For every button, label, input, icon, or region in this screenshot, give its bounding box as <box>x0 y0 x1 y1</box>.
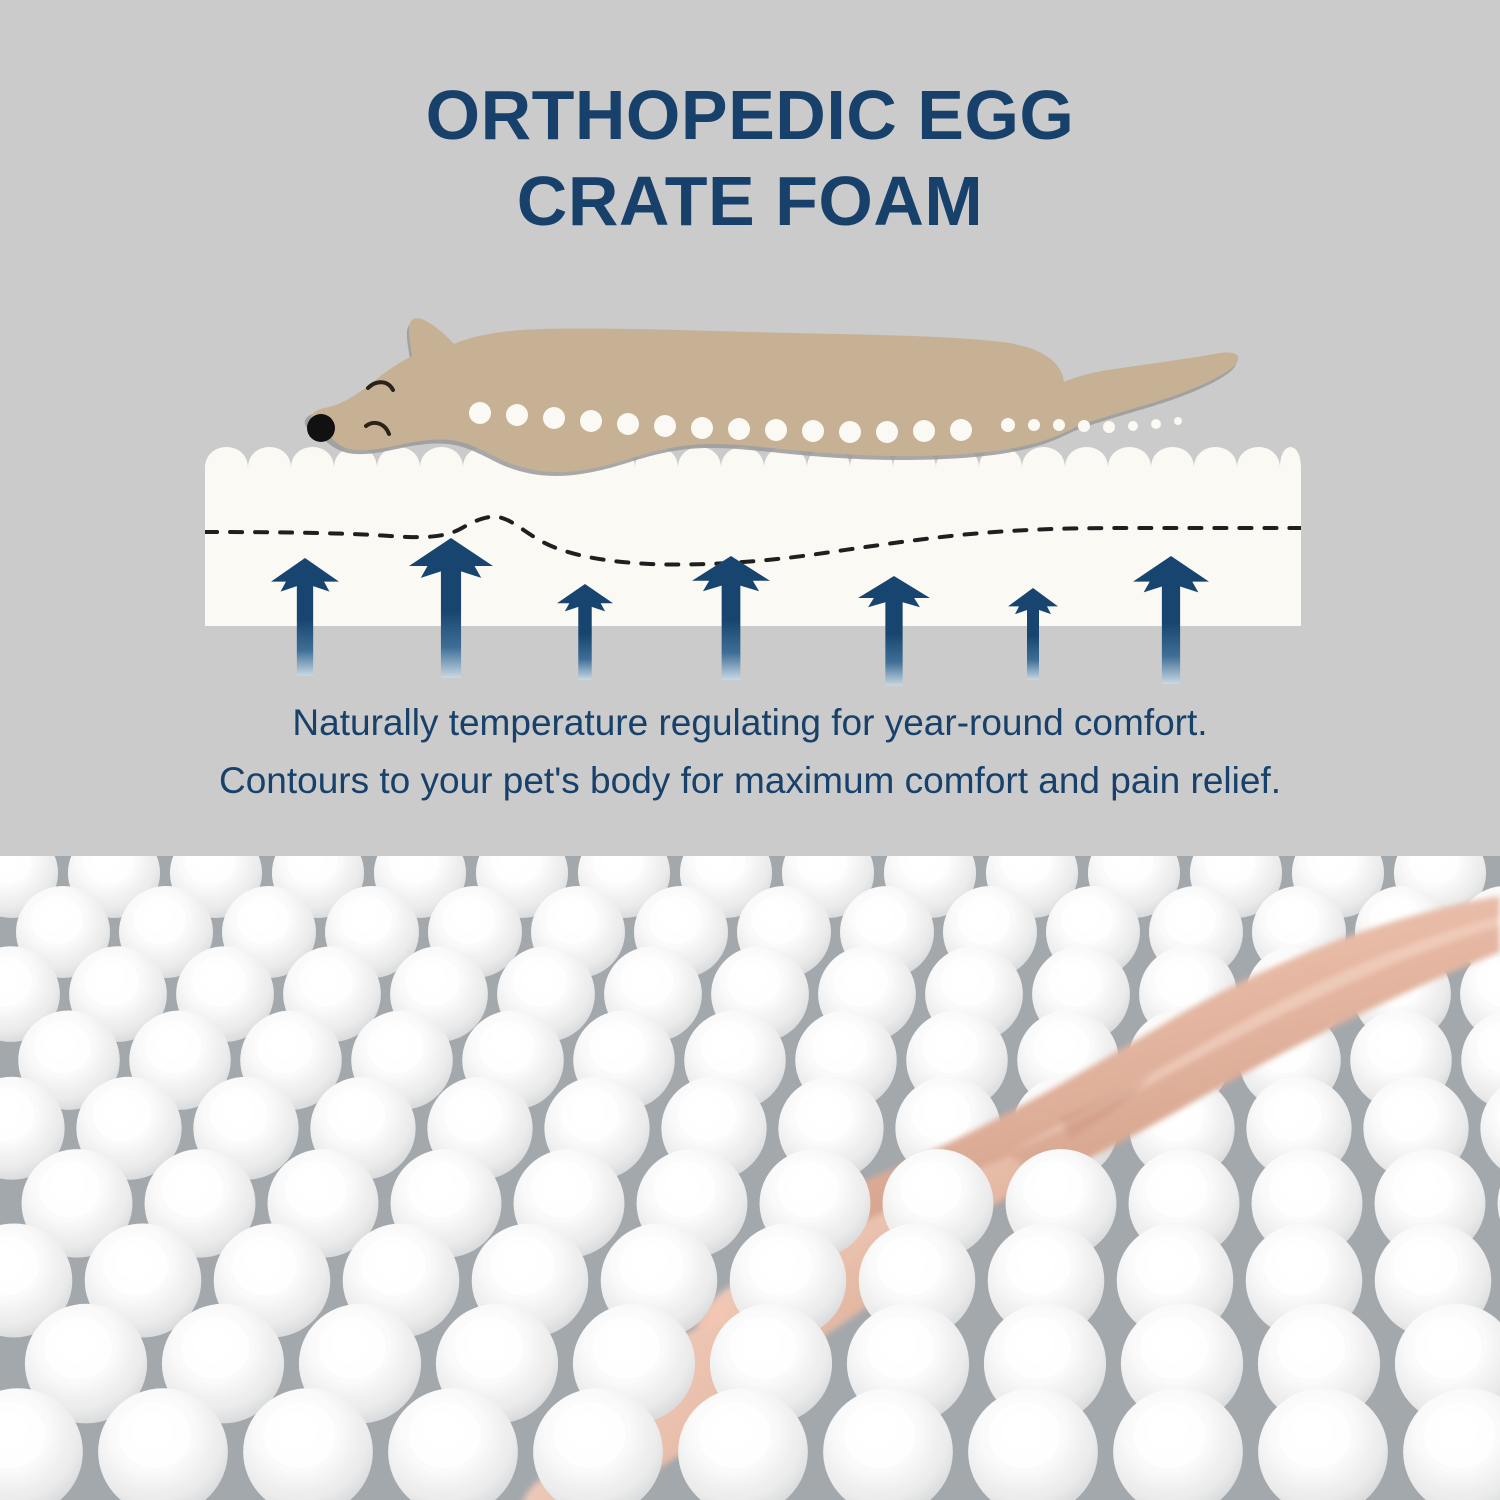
page-title-line-1: ORTHOPEDIC EGG <box>0 72 1500 158</box>
foam-block <box>205 447 1301 626</box>
product-feature-graphic: ORTHOPEDIC EGG CRATE FOAM <box>0 0 1500 1500</box>
feature-caption-line-2: Contours to your pet's body for maximum … <box>0 752 1500 810</box>
support-arrow-3 <box>557 584 613 680</box>
dog-on-foam-illustration <box>0 300 1500 700</box>
dog-nose-icon <box>307 414 335 442</box>
support-arrow-6 <box>1008 588 1058 680</box>
support-arrow-5 <box>858 576 930 686</box>
foam-texture-photo <box>0 856 1500 1500</box>
feature-caption-line-1: Naturally temperature regulating for yea… <box>0 694 1500 752</box>
page-title: ORTHOPEDIC EGG CRATE FOAM <box>0 72 1500 244</box>
page-title-line-2: CRATE FOAM <box>0 158 1500 244</box>
top-info-panel: ORTHOPEDIC EGG CRATE FOAM <box>0 0 1500 856</box>
feature-caption: Naturally temperature regulating for yea… <box>0 694 1500 810</box>
